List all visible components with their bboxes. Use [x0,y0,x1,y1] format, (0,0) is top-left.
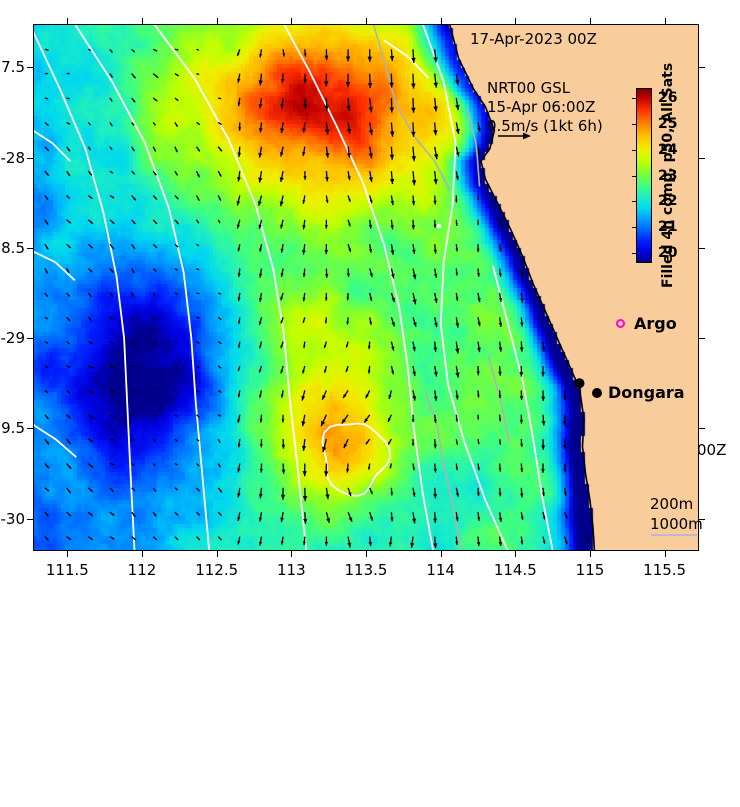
current-vector-head [565,516,567,519]
current-vector-head [412,201,416,205]
current-vector-head [455,542,458,546]
current-vector-head [303,471,307,476]
depth-contour-fragment-1 [33,251,75,280]
current-vector-head [260,444,263,447]
current-vector-head [565,541,568,545]
current-vector-head [520,444,523,447]
colorbar-tick [632,253,636,254]
dongara-station-marker [575,378,585,388]
current-vector-head [455,373,459,378]
colorbar-title: Filled 4h comp, p50, All Sats [659,88,677,263]
eddy-closed-contour [322,424,390,497]
current-vector-head [455,200,458,203]
current-vector-head [455,105,459,110]
current-vector-head [324,250,328,254]
current-vector-head [346,106,351,111]
current-vector-head [433,543,437,548]
colorbar: 20212223242526 [636,88,652,263]
dongara-legend-item: Dongara [592,383,685,402]
current-vector-head [390,56,394,61]
colorbar-gradient [636,88,652,263]
current-vector-head [303,176,306,180]
current-vector-head [347,273,350,277]
current-vector-head [259,370,261,373]
argo-legend-label: Argo [634,314,677,333]
satellite-track-0 [374,24,450,190]
depth-label-1000m: 1000m [650,514,703,534]
current-vector-head [392,298,395,302]
current-vector-head [324,345,326,348]
current-vector-head [303,104,307,109]
current-vector-head [324,82,329,87]
y-axis-tick [27,158,33,159]
current-vector-head [477,493,480,496]
x-axis-tick [291,551,292,557]
current-vector-head [280,297,283,301]
satellite-track-3 [488,356,509,443]
current-vector-head [477,371,480,375]
x-axis-label: 112.5 [182,561,252,579]
current-vector-head [281,495,285,500]
x-axis-label: 114 [406,561,476,579]
depth-label-200m: 200m [650,494,703,514]
current-vector-head [412,443,415,446]
current-vector-head [563,469,566,473]
y-axis-tick [27,67,33,68]
y-axis-label: -29 [0,329,25,347]
current-vector-head [282,419,285,422]
dongara-legend-label: Dongara [608,383,685,402]
edge-cut-text: 00Z [697,441,726,459]
y-axis-tick [699,338,705,339]
depth-contour-1 [75,24,209,551]
y-axis-tick [699,248,705,249]
current-vector-head [412,225,416,229]
x-axis-tick [67,18,68,24]
argo-legend-item: Argo [616,314,677,333]
current-vector-head [282,445,286,449]
current-vector-head [346,322,349,325]
x-axis-label: 115 [555,561,625,579]
current-vector-head [499,419,502,422]
current-vector-head [456,223,458,226]
current-vector-head [325,225,328,229]
x-axis-tick [142,551,143,557]
x-axis-tick [590,18,591,24]
y-axis-label: -30 [0,510,25,528]
depth-legend-rule [651,534,697,536]
y-axis-tick [699,519,705,520]
current-vector-head [346,57,350,62]
current-vector-head [563,421,567,425]
x-axis-tick [515,18,516,24]
x-axis-tick [665,551,666,557]
current-vector-head [541,397,545,402]
depth-contour-0 [33,31,135,551]
current-vector-head [368,57,373,62]
current-vector-head [346,82,351,87]
current-vector-head [563,445,567,449]
x-axis-label: 115.5 [630,561,700,579]
current-vector-head [349,517,353,522]
current-vector-head [541,469,545,473]
x-axis-label: 113.5 [331,561,401,579]
x-axis-tick [291,18,292,24]
current-vector-head [325,274,328,278]
colorbar-tick [632,227,636,228]
current-vector-head [348,248,351,252]
current-vector-head [369,177,373,182]
current-vector-head [456,129,460,134]
current-vector-head [260,469,263,473]
current-vector-head [433,201,436,205]
depth-contour-fragment-0 [33,131,70,162]
current-vector-head [434,225,437,228]
current-vector-head [433,130,438,135]
current-vector-head [390,518,393,522]
current-vector-head [282,470,286,474]
current-vector-head [433,518,437,523]
current-vector-head [434,444,437,448]
current-vector-head [411,84,416,89]
x-axis-tick [665,18,666,24]
current-vector-head [434,154,438,159]
y-axis-tick [699,158,705,159]
colorbar-tick [632,176,636,177]
current-vector-head [520,420,523,424]
y-axis-tick [27,519,33,520]
reference-velocity-arrow [497,130,531,142]
current-vector-head [348,223,350,226]
depth-contour-fragment-2 [33,425,76,458]
current-vector-head [520,468,523,472]
x-axis-tick [441,551,442,557]
current-vector-head [390,108,395,113]
current-vector-head [325,542,328,546]
y-axis-tick [699,428,705,429]
current-vector-head [260,419,263,422]
current-vector-head [237,53,240,56]
argo-marker-icon [616,319,625,328]
x-axis-tick [366,18,367,24]
current-vector-head [390,155,395,160]
current-vector-head [347,543,351,548]
current-vector-head [238,153,242,157]
current-vector-head [433,494,437,499]
y-axis-tick [27,248,33,249]
current-vector-head [413,322,417,326]
y-axis-tick [27,428,33,429]
y-axis-label: -28 [0,149,25,167]
x-axis-tick [142,18,143,24]
product-annotation: NRT00 GSL 15-Apr 06:00Z 0.5m/s (1kt 6h) [487,79,603,136]
satellite-track-1 [468,107,480,186]
current-vector-head [412,419,415,422]
current-vector-head [541,372,545,376]
current-vector-head [520,396,524,400]
current-vector-head [368,83,372,88]
current-vector-head [258,153,262,158]
y-axis-label: -28.5 [0,239,25,257]
depth-contour-legend: 200m 1000m [650,494,703,534]
current-vector-head [390,492,393,495]
current-vector-head [301,421,305,426]
current-vector-head [541,445,545,450]
current-vector-head [238,127,241,131]
current-vector-head [325,56,329,61]
current-vector-head [477,249,480,252]
x-axis-label: 114.5 [480,561,550,579]
x-axis-label: 112 [107,561,177,579]
current-vector-head [563,396,567,400]
x-axis-label: 113 [256,561,326,579]
map-title-date: 17-Apr-2023 00Z [470,30,597,48]
x-axis-tick [590,551,591,557]
current-vector-head [519,372,523,376]
colorbar-tick [632,150,636,151]
current-vector-head [477,395,480,398]
colorbar-tick [632,98,636,99]
current-vector-head [325,298,328,301]
current-vector-head [303,496,308,501]
current-vector-head [498,372,502,376]
colorbar-tick [632,201,636,202]
annotation-line-1: 15-Apr 06:00Z [487,98,603,117]
current-vector-head [348,199,350,202]
current-vector-head [258,178,262,183]
x-axis-label: 111.5 [32,561,102,579]
annotation-line-0: NRT00 GSL [487,79,603,98]
dongara-marker-icon [592,388,602,398]
x-axis-tick [366,551,367,557]
current-vector-head [520,493,524,497]
colorbar-tick [632,124,636,125]
current-vector-head [370,517,373,521]
x-axis-tick [67,551,68,557]
x-axis-tick [441,18,442,24]
current-vector-head [520,347,524,351]
current-vector-head [325,177,329,181]
x-axis-tick [217,551,218,557]
depth-contour-fragment-3 [384,40,429,78]
current-vector-head [390,179,394,184]
y-axis-tick [699,67,705,68]
current-vector-head [303,79,307,83]
y-axis-tick [27,338,33,339]
x-axis-tick [515,551,516,557]
y-axis-label: -27.5 [0,58,25,76]
current-vector-head [392,322,395,326]
current-vector-head [370,273,373,277]
y-axis-label: -29.5 [0,419,25,437]
x-axis-tick [217,18,218,24]
current-vector-head [411,108,416,113]
current-vector-head [281,345,283,348]
current-vector-head [369,130,373,135]
